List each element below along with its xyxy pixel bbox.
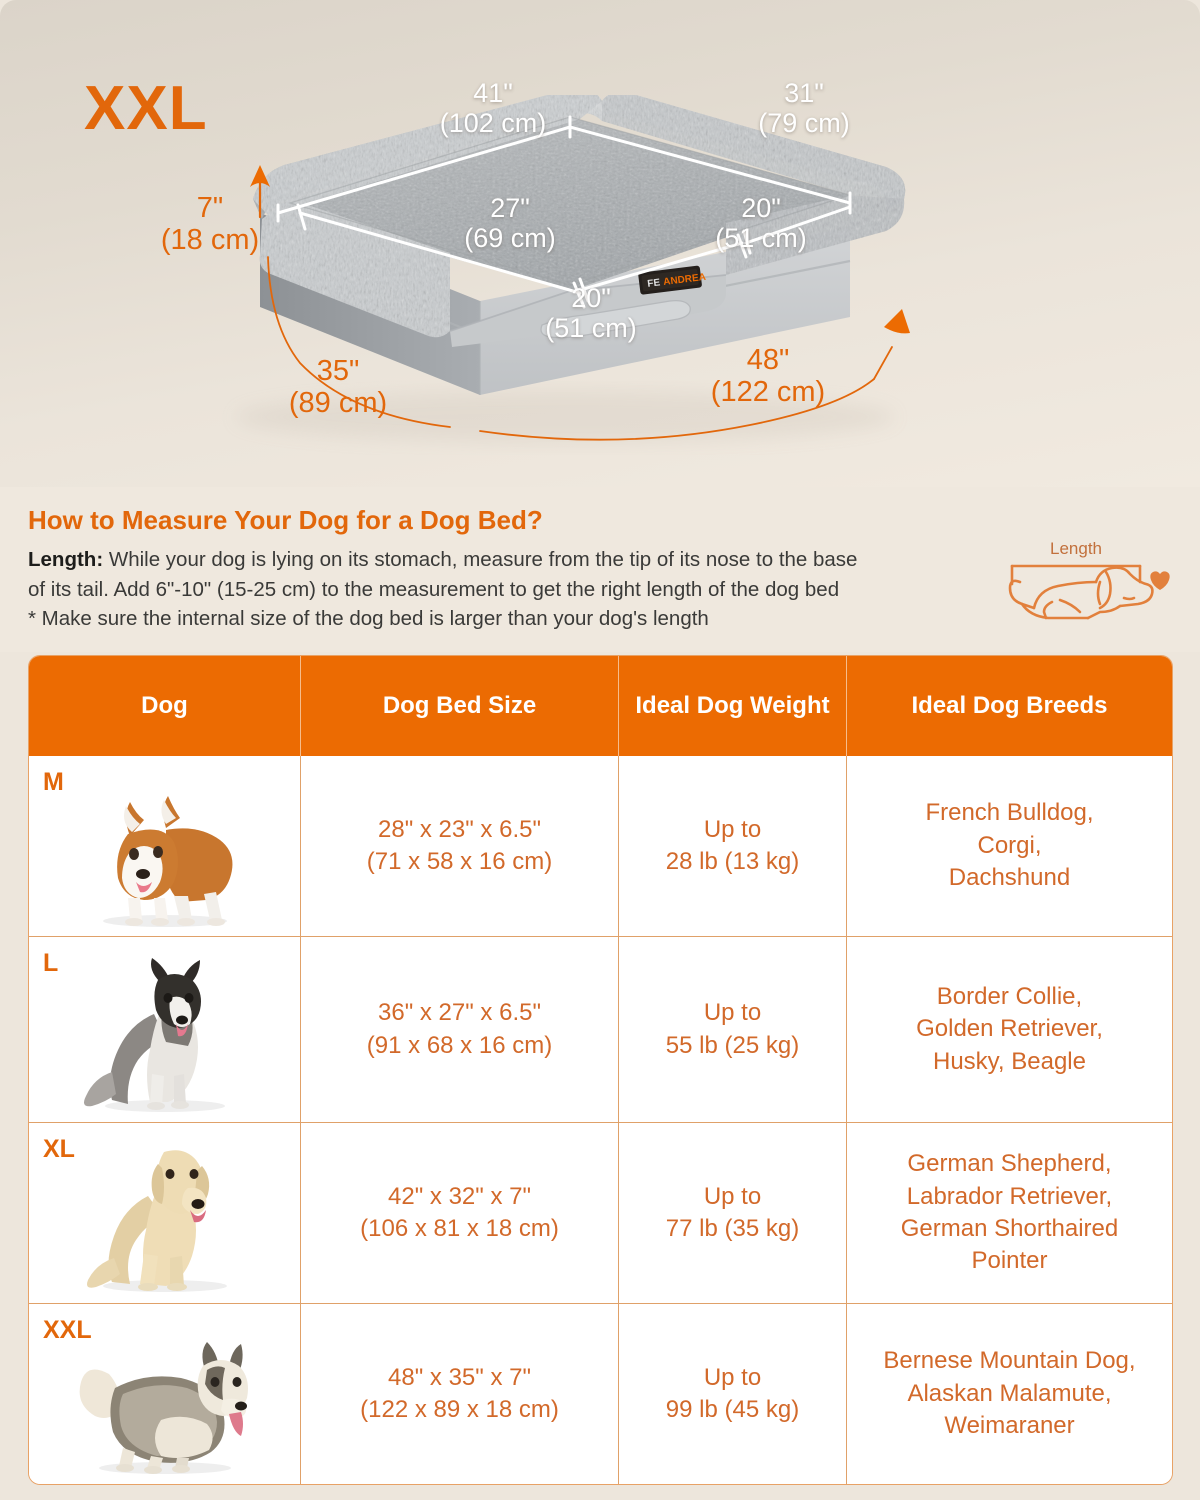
bed-size-cm: (91 x 68 x 16 cm) xyxy=(367,1030,552,1062)
dimension-sleep-depth-right: 20" (51 cm) xyxy=(676,193,846,253)
column-header-bed-size: Dog Bed Size xyxy=(301,656,619,756)
breed-line: Corgi, xyxy=(925,830,1093,862)
column-header-breeds: Ideal Dog Breeds xyxy=(847,656,1172,756)
breed-line: Husky, Beagle xyxy=(916,1046,1103,1078)
dimension-outer-width: 48" (122 cm) xyxy=(672,344,864,409)
size-label-m: M xyxy=(43,766,64,800)
dimension-sleep-depth-front: 20" (51 cm) xyxy=(506,283,676,343)
hero-section: XXL xyxy=(0,0,1200,487)
measure-section-body: Length: While your dog is lying on its s… xyxy=(28,545,978,634)
dog-length-diagram: Length xyxy=(1000,520,1180,635)
cell-weight-l: Up to55 lb (25 kg) xyxy=(619,937,847,1122)
cell-breeds-l: Border Collie,Golden Retriever,Husky, Be… xyxy=(847,937,1172,1122)
weight-value: 55 lb (25 kg) xyxy=(666,1030,799,1062)
column-header-dog: Dog xyxy=(29,656,301,756)
breed-line: Labrador Retriever, xyxy=(901,1181,1118,1213)
cell-weight-xl: Up to77 lb (35 kg) xyxy=(619,1123,847,1303)
cell-breeds-xl: German Shepherd,Labrador Retriever,Germa… xyxy=(847,1123,1172,1303)
table-row: M 28" x 23" x 6.5"(71 x 58 x 16 cm)Up to… xyxy=(29,756,1172,936)
weight-prefix: Up to xyxy=(666,997,799,1029)
breed-line: Weimaraner xyxy=(883,1410,1135,1442)
table-header-row: Dog Dog Bed Size Ideal Dog Weight Ideal … xyxy=(29,656,1172,756)
dog-size-table: Dog Dog Bed Size Ideal Dog Weight Ideal … xyxy=(28,655,1173,1485)
dimension-height: 7" (18 cm) xyxy=(140,192,280,257)
bed-size-cm: (71 x 58 x 16 cm) xyxy=(367,846,552,878)
cell-breeds-xxl: Bernese Mountain Dog,Alaskan Malamute,We… xyxy=(847,1304,1172,1484)
measure-section-title: How to Measure Your Dog for a Dog Bed? xyxy=(28,505,543,536)
dimension-outer-depth: 35" (89 cm) xyxy=(258,355,418,420)
cell-bed-size-xl: 42" x 32" x 7"(106 x 81 x 18 cm) xyxy=(301,1123,619,1303)
dog-photo-border-collie xyxy=(35,945,294,1114)
bed-size-inches: 42" x 32" x 7" xyxy=(360,1181,559,1213)
cell-bed-size-m: 28" x 23" x 6.5"(71 x 58 x 16 cm) xyxy=(301,756,619,936)
breed-line: German Shepherd, xyxy=(901,1148,1118,1180)
table-row: L 36" x 27" x 6.5"(91 x 68 x 16 cm)Up to… xyxy=(29,936,1172,1122)
bed-size-cm: (106 x 81 x 18 cm) xyxy=(360,1213,559,1245)
cell-weight-xxl: Up to99 lb (45 kg) xyxy=(619,1304,847,1484)
cell-dog-l: L xyxy=(29,937,301,1122)
weight-prefix: Up to xyxy=(666,814,799,846)
measure-line-2: of its tail. Add 6"-10" (15-25 cm) to th… xyxy=(28,575,978,605)
column-header-weight: Ideal Dog Weight xyxy=(619,656,847,756)
bed-size-inches: 36" x 27" x 6.5" xyxy=(367,997,552,1029)
weight-prefix: Up to xyxy=(666,1181,799,1213)
weight-value: 99 lb (45 kg) xyxy=(666,1394,799,1426)
measure-paragraph: Length: While your dog is lying on its s… xyxy=(28,545,978,575)
weight-value: 28 lb (13 kg) xyxy=(666,846,799,878)
dimension-inner-back-width: 41" (102 cm) xyxy=(398,78,588,138)
heart-icon xyxy=(1150,571,1169,590)
table-row: XL 42" x 32" x 7"(106 x 81 x 18 cm)Up to… xyxy=(29,1122,1172,1303)
weight-value: 77 lb (35 kg) xyxy=(666,1213,799,1245)
cell-bed-size-xxl: 48" x 35" x 7"(122 x 89 x 18 cm) xyxy=(301,1304,619,1484)
bed-size-cm: (122 x 89 x 18 cm) xyxy=(360,1394,559,1426)
size-label-xxl: XXL xyxy=(43,1314,92,1348)
cell-weight-m: Up to28 lb (13 kg) xyxy=(619,756,847,936)
breed-line: Border Collie, xyxy=(916,981,1103,1013)
cell-dog-xxl: XXL xyxy=(29,1304,301,1484)
cell-dog-m: M xyxy=(29,756,301,936)
cell-breeds-m: French Bulldog,Corgi,Dachshund xyxy=(847,756,1172,936)
table-body: M 28" x 23" x 6.5"(71 x 58 x 16 cm)Up to… xyxy=(29,756,1172,1484)
size-label-xl: XL xyxy=(43,1133,75,1167)
cell-bed-size-l: 36" x 27" x 6.5"(91 x 68 x 16 cm) xyxy=(301,937,619,1122)
measure-line-1: While your dog is lying on its stomach, … xyxy=(103,548,857,571)
breed-line: Alaskan Malamute, xyxy=(883,1378,1135,1410)
breed-line: German Shorthaired xyxy=(901,1213,1118,1245)
table-row: XXL 48" x 35" x 7"(122 x 89 x 18 cm)Up t… xyxy=(29,1303,1172,1484)
bed-size-inches: 28" x 23" x 6.5" xyxy=(367,814,552,846)
cell-dog-xl: XL xyxy=(29,1123,301,1303)
dimension-sleep-width: 27" (69 cm) xyxy=(420,193,600,253)
breed-line: French Bulldog, xyxy=(925,797,1093,829)
dog-photo-corgi xyxy=(35,764,294,928)
measure-note: * Make sure the internal size of the dog… xyxy=(28,604,978,634)
dimension-inner-side-depth: 31" (79 cm) xyxy=(714,78,894,138)
length-label: Length: xyxy=(28,548,103,571)
bed-size-inches: 48" x 35" x 7" xyxy=(360,1362,559,1394)
diagram-length-label: Length xyxy=(1050,539,1102,558)
breed-line: Bernese Mountain Dog, xyxy=(883,1345,1135,1377)
breed-line: Golden Retriever, xyxy=(916,1013,1103,1045)
breed-line: Pointer xyxy=(901,1245,1118,1277)
breed-line: Dachshund xyxy=(925,862,1093,894)
weight-prefix: Up to xyxy=(666,1362,799,1394)
size-label-l: L xyxy=(43,947,58,981)
